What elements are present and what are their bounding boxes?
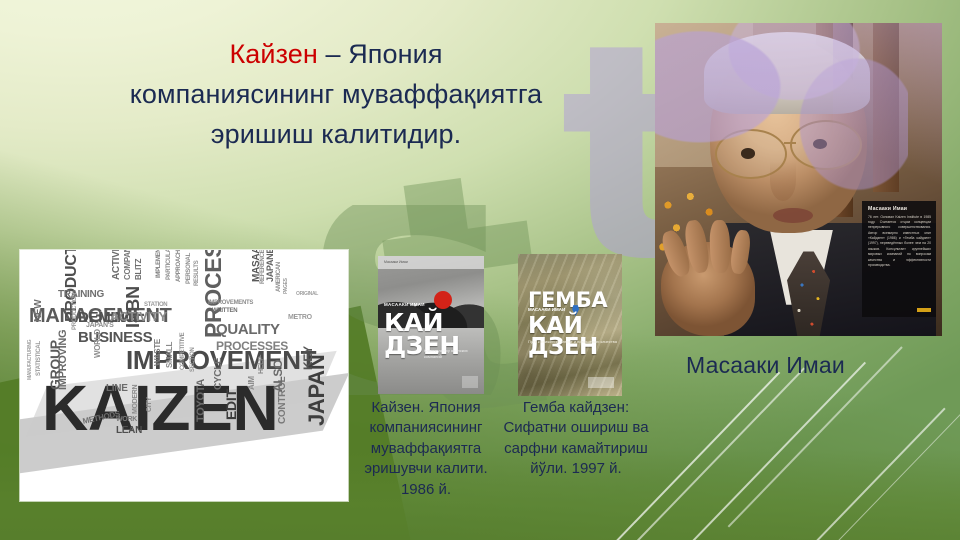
wordcloud-word: RESULTS xyxy=(194,261,200,286)
wordcloud-word: JAPANESE xyxy=(266,250,275,282)
title-line3: эришиш калитидир. xyxy=(211,119,462,149)
wordcloud-word: PERSONAL xyxy=(186,253,192,284)
book-cover-kaizen: Масааки Имаи МАСААКИ ИМАИ КАЙ ДЗЕН Ключ … xyxy=(378,256,484,394)
wordcloud-word: SECTION xyxy=(190,347,196,372)
photo-hair xyxy=(704,32,870,113)
wordcloud-word: AMERICAN xyxy=(276,262,282,292)
wordcloud-word: PAGES xyxy=(284,278,289,294)
caption-book2: Гемба кайдзен: Сифатни ошириш ва сарфни … xyxy=(500,398,652,480)
photo-mouth xyxy=(773,208,813,224)
title-line2: компаниясининг муваффақиятга xyxy=(130,79,543,109)
wordcloud-word: PARTICULAR xyxy=(166,250,172,280)
photo-caption-heading: Масааки Имаи xyxy=(868,206,931,212)
slide-canvas: e S t t Кайзен – Япония компаниясининг м… xyxy=(0,0,960,540)
book-cover-gemba-kaizen: ГЕМБА МАСААКИ ИМАИ КАЙ ДЗЕН Путь к сниже… xyxy=(518,254,622,396)
photo-pillar-secondary xyxy=(873,23,899,192)
wordcloud-word: METRO xyxy=(288,314,312,321)
wordcloud-word: WASTE xyxy=(154,339,162,366)
photo-caption-accent-bar xyxy=(917,308,931,312)
wordcloud-word: CITY xyxy=(146,397,153,412)
title-highlight: Кайзен xyxy=(229,39,317,69)
book2-author: МАСААКИ ИМАИ xyxy=(528,307,565,312)
wordcloud-word: SMALL xyxy=(166,342,174,368)
wordcloud-word: CYCLE xyxy=(214,358,224,390)
page-title: Кайзен – Япония компаниясининг муваффақи… xyxy=(36,34,636,155)
wordcloud-word: ACTIVITIES xyxy=(112,250,122,280)
caption-book1: Кайзен. Япония компаниясининг муваффақия… xyxy=(350,398,502,500)
wordcloud-word: APPROACH xyxy=(176,250,182,282)
book1-author: МАСААКИ ИМАИ xyxy=(384,302,425,307)
wordcloud-word: WRITTEN xyxy=(212,308,237,314)
wordcloud-word: BUSINESS xyxy=(78,330,152,345)
photo-finger xyxy=(709,220,731,274)
book2-publisher-logo xyxy=(588,377,614,388)
book1-top-band: Масааки Имаи xyxy=(378,256,484,269)
book1-sun-circle xyxy=(434,291,452,309)
wordcloud-word: TOYOTA xyxy=(196,379,207,422)
wordcloud-word: QUALITY xyxy=(216,322,280,337)
wordcloud-word: IMPLEMENTATION xyxy=(156,250,162,278)
wordcloud-word: KAIZEN xyxy=(42,376,278,440)
wordcloud-image: KAIZENIMPROVEMENTMANAGEMENTPROCESSQUALIT… xyxy=(20,250,348,501)
wordcloud-word: BLITZ xyxy=(135,259,143,280)
decorative-stripe xyxy=(684,362,866,540)
wordcloud-word: STATION xyxy=(144,302,167,308)
wordcloud-word: PRODUCTION xyxy=(72,293,78,330)
wordcloud-word: ORIGINAL xyxy=(296,292,318,297)
book1-subtitle: Ключ к успеху японских компаний xyxy=(424,348,484,360)
wordcloud-word: PROCESSES xyxy=(216,340,288,352)
photo-caption-block: Масааки Имаи 76 лет. Основал Kaizen Inst… xyxy=(862,201,936,317)
photo-eyeglass-bridge xyxy=(784,142,795,144)
decorative-stripe xyxy=(829,402,960,540)
wordcloud-word: ALSO xyxy=(272,360,284,392)
wordcloud-word: STATISTICAL xyxy=(36,341,42,376)
photo-nose xyxy=(770,161,796,202)
wordcloud-word: COMPANY xyxy=(124,250,132,280)
wordcloud-word: IMPROVEMENTS xyxy=(208,300,253,306)
wordcloud-word: WORLD xyxy=(94,329,102,358)
title-rest-line1: – Япония xyxy=(318,39,443,69)
portrait-photo-masaaki-imai: Масааки Имаи 76 лет. Основал Kaizen Inst… xyxy=(655,23,942,336)
wordcloud-word: EDIT xyxy=(224,389,238,420)
book2-subtitle: Путь к снижению затрат и повышению качес… xyxy=(528,339,617,345)
book2-title-lines: КАЙ ДЗЕН xyxy=(528,316,598,357)
wordcloud-word: MANUFACTURING xyxy=(28,340,33,380)
wordcloud-word: ACTIVITY xyxy=(110,310,167,323)
wordcloud-word: AIM xyxy=(248,376,256,390)
photo-caption-body: 76 лет. Основал Kaizen Institute в 1985 … xyxy=(868,215,931,269)
photo-name-label: Масааки Имаи xyxy=(686,352,845,379)
wordcloud-word: LINE xyxy=(106,384,128,394)
book1-publisher-logo xyxy=(462,376,478,388)
wordcloud-word: HELP xyxy=(258,357,265,374)
wordcloud-word: COMPETITIVE xyxy=(180,333,186,370)
wordcloud-word: NEW xyxy=(34,300,44,322)
wordcloud-word: KEY xyxy=(302,346,314,370)
wordcloud-word: TRAINING xyxy=(58,290,104,300)
wordcloud-word: JAPAN'S xyxy=(86,322,113,329)
wordcloud-word: REFERENCES xyxy=(260,250,266,284)
wordcloud-word: LEAN xyxy=(116,426,142,436)
wordcloud-word: IMPROVING xyxy=(58,330,69,390)
decorative-stripe xyxy=(784,408,945,540)
wordcloud-word: MODERN xyxy=(132,385,139,414)
